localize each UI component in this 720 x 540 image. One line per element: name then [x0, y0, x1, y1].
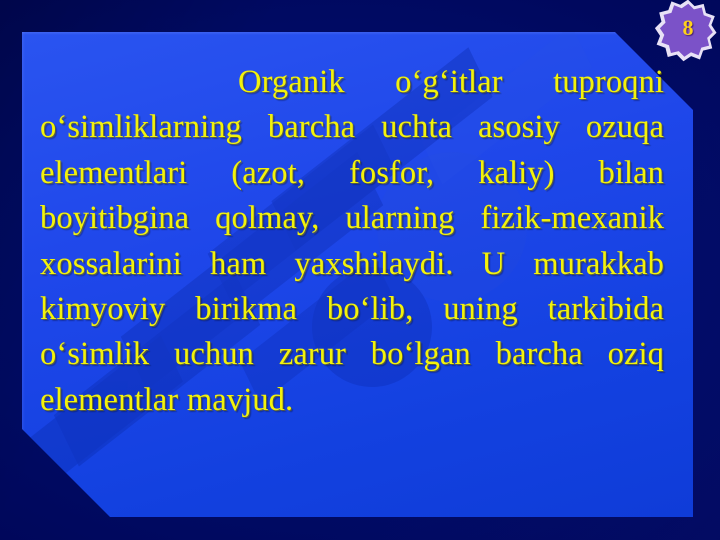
slide-number-badge: 8: [657, 0, 719, 58]
presentation-slide: Organik oʻgʻitlar tuproqni oʻsimliklarni…: [0, 0, 720, 540]
slide-body-text: Organik oʻgʻitlar tuproqni oʻsimliklarni…: [40, 60, 664, 423]
slide-number-label: 8: [657, 0, 719, 58]
